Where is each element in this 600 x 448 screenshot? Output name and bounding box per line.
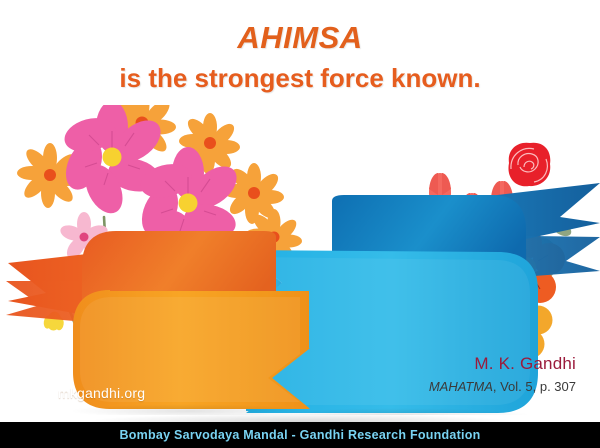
author-name: M. K. Gandhi: [474, 354, 576, 374]
footer-bar: Bombay Sarvodaya Mandal - Gandhi Researc…: [0, 422, 600, 448]
quote-block: AHIMSA is the strongest force known.: [0, 22, 600, 92]
poster-canvas: AHIMSA is the strongest force known.: [0, 0, 600, 448]
source-detail: , Vol. 5, p. 307: [493, 379, 576, 394]
source-title: MAHATMA: [429, 379, 493, 394]
quote-line-1: AHIMSA: [0, 22, 600, 55]
footer-shadow: [0, 406, 600, 422]
footer-organization-text: Bombay Sarvodaya Mandal - Gandhi Researc…: [120, 428, 481, 442]
website-url[interactable]: mkgandhi.org: [58, 385, 145, 401]
quote-line-2: is the strongest force known.: [0, 64, 600, 93]
source-citation: MAHATMA, Vol. 5, p. 307: [429, 379, 576, 394]
